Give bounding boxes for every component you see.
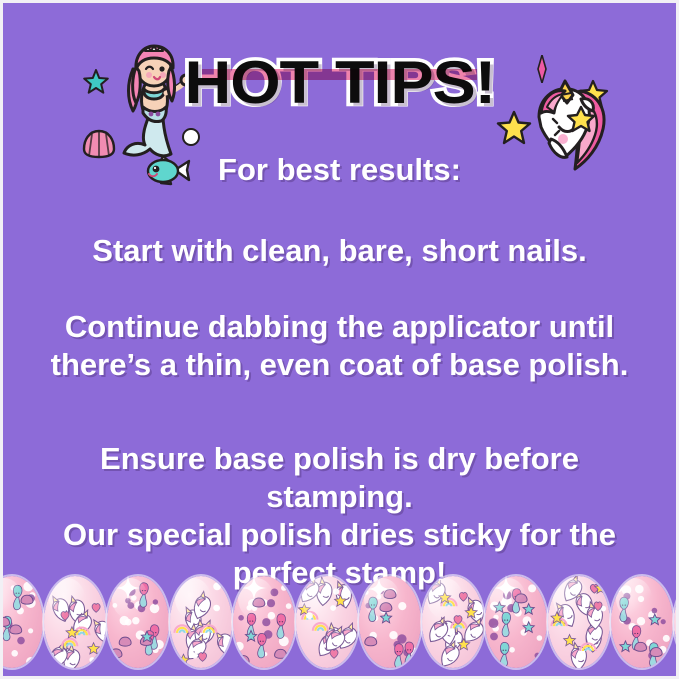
page-title: HOT TIPS!: [3, 53, 676, 123]
instruction-step-1: Start with clean, bare, short nails.: [33, 231, 646, 271]
nail-swatch-unicorn: [548, 576, 610, 668]
nail-swatch-mermaid: [233, 576, 295, 668]
nail-swatch-unicorn: [44, 576, 106, 668]
nail-pattern: [3, 576, 43, 668]
instruction-line: Start with clean, bare, short nails.: [33, 231, 646, 271]
instruction-line: Continue dabbing the applicator until: [33, 308, 646, 346]
nail-swatch-mermaid: [485, 576, 547, 668]
nail-pattern: [296, 576, 358, 668]
nail-pattern: [170, 576, 232, 668]
nail-pattern: [233, 576, 295, 668]
nail-swatch-unicorn: [674, 576, 676, 668]
lead-text: For best results:: [33, 151, 646, 189]
nail-pattern: [611, 576, 673, 668]
nail-pattern: [107, 576, 169, 668]
nail-pattern: [485, 576, 547, 668]
page-title-text: HOT TIPS!: [184, 53, 495, 113]
nail-pattern: [422, 576, 484, 668]
nail-pattern: [674, 576, 676, 668]
nail-sample-strip: [3, 557, 676, 676]
nail-pattern: [548, 576, 610, 668]
nail-swatch-mermaid: [3, 576, 43, 668]
nail-swatch-mermaid: [107, 576, 169, 668]
nail-pattern: [359, 576, 421, 668]
nail-swatch-unicorn: [422, 576, 484, 668]
nail-swatch-unicorn: [170, 576, 232, 668]
nail-swatch-mermaid: [611, 576, 673, 668]
instruction-line: there’s a thin, even coat of base polish…: [33, 346, 646, 384]
instruction-step-2: Continue dabbing the applicator until th…: [33, 308, 646, 384]
instruction-line: Our special polish dries sticky for the: [33, 516, 646, 554]
nail-swatch-unicorn: [296, 576, 358, 668]
nail-swatch-mermaid: [359, 576, 421, 668]
nail-pattern: [44, 576, 106, 668]
hot-tips-poster: HOT TIPS! For best results: Start with c…: [0, 0, 679, 679]
instruction-line: Ensure base polish is dry before stampin…: [33, 440, 646, 516]
bubble-icon: [181, 127, 201, 147]
